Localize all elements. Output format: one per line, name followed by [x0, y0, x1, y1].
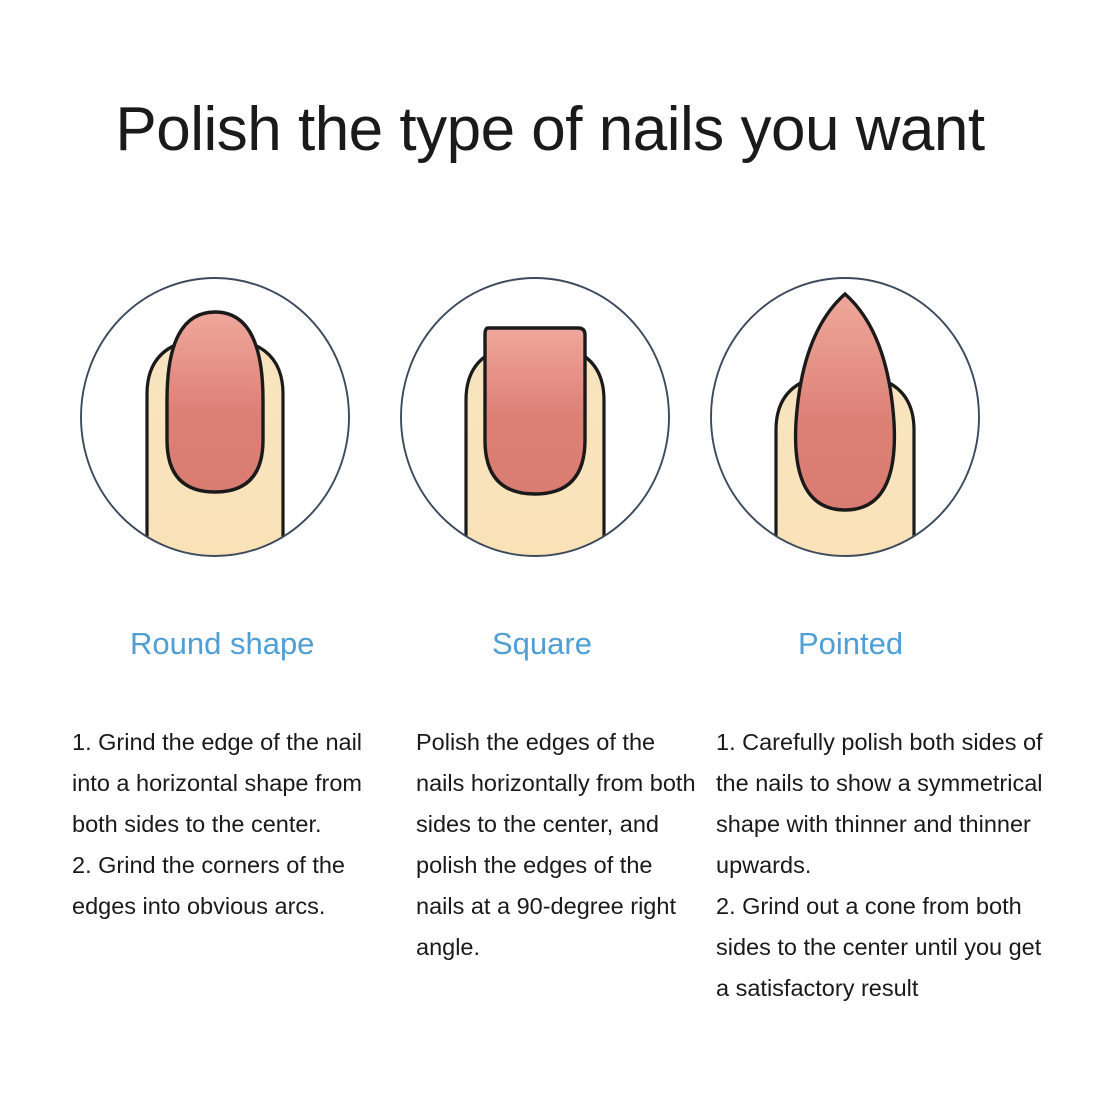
square-nail-art: [390, 272, 680, 562]
nail-plate: [485, 328, 585, 494]
instruction-columns: 1. Grind the edge of the nail into a hor…: [0, 722, 1100, 1052]
shape-label-pointed: Pointed: [798, 626, 903, 662]
instructions-square: Polish the edges of the nails horizontal…: [416, 722, 696, 968]
page-title: Polish the type of nails you want: [0, 96, 1100, 164]
round-nail-illustration: [70, 272, 360, 562]
shape-label-round: Round shape: [130, 626, 314, 662]
instructions-round: 1. Grind the edge of the nail into a hor…: [72, 722, 402, 927]
infographic-page: Polish the type of nails you want: [0, 0, 1100, 1100]
shape-label-square: Square: [492, 626, 592, 662]
instructions-pointed: 1. Carefully polish both sides of the na…: [716, 722, 1046, 1009]
shape-label-row: Round shape Square Pointed: [0, 626, 1100, 676]
round-nail-art: [70, 272, 360, 562]
square-nail-illustration: [390, 272, 680, 562]
nail-plate: [167, 312, 263, 492]
illustration-row: [0, 272, 1100, 572]
pointed-nail-art: [700, 272, 990, 562]
pointed-nail-illustration: [700, 272, 990, 562]
